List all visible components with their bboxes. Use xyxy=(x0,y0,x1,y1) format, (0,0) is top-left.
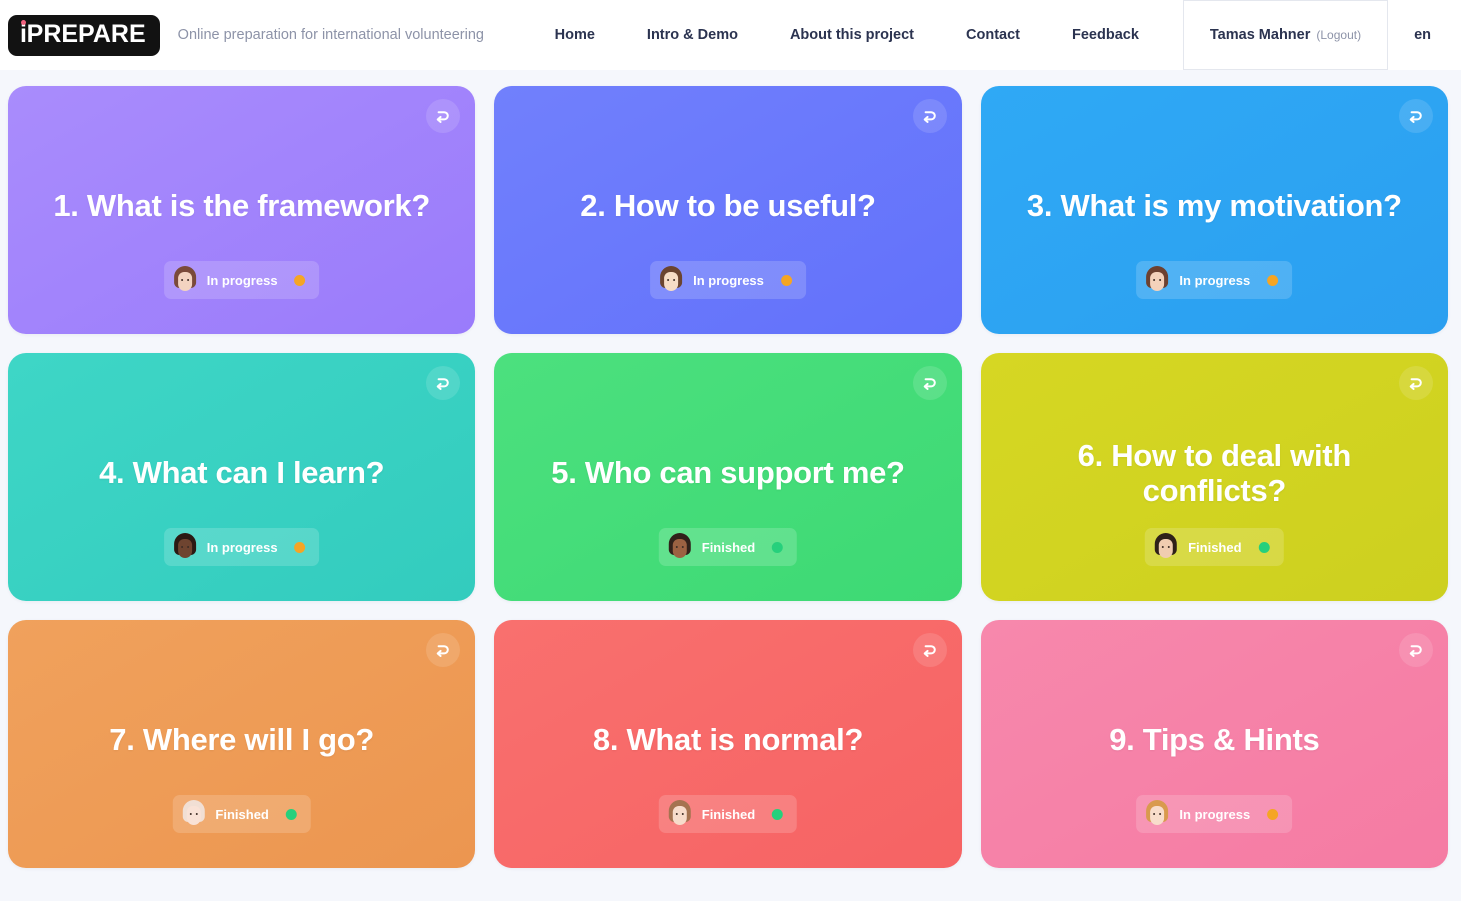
status-badge: Finished xyxy=(1145,528,1283,566)
status-badge: In progress xyxy=(164,528,320,566)
card-title: 3. What is my motivation? xyxy=(987,188,1442,223)
card-title: 6. How to deal with conflicts? xyxy=(981,438,1448,509)
status-dot-finished xyxy=(286,809,297,820)
card-4[interactable]: 4. What can I learn?In progress xyxy=(8,353,475,601)
avatar-dark-skin-male xyxy=(172,533,198,561)
status-label: In progress xyxy=(207,273,278,288)
avatar-brown-hair-woman xyxy=(1144,266,1170,294)
status-dot-in-progress xyxy=(781,275,792,286)
reset-arrow-icon xyxy=(1407,374,1425,392)
reset-arrow-icon xyxy=(434,107,452,125)
reset-progress-button[interactable] xyxy=(426,633,460,667)
reset-progress-button[interactable] xyxy=(913,633,947,667)
card-title: 4. What can I learn? xyxy=(59,455,424,490)
status-badge: In progress xyxy=(1136,261,1292,299)
reset-arrow-icon xyxy=(921,641,939,659)
card-8[interactable]: 8. What is normal?Finished xyxy=(494,620,961,868)
card-title: 2. How to be useful? xyxy=(540,188,915,223)
nav-about[interactable]: About this project xyxy=(764,0,940,70)
status-label: In progress xyxy=(693,273,764,288)
reset-arrow-icon xyxy=(434,374,452,392)
status-dot-in-progress xyxy=(295,542,306,553)
reset-progress-button[interactable] xyxy=(426,366,460,400)
status-dot-in-progress xyxy=(295,275,306,286)
avatar-curly-dark-hair-woman xyxy=(667,533,693,561)
status-label: In progress xyxy=(1179,807,1250,822)
status-badge: Finished xyxy=(172,795,310,833)
card-title: 1. What is the framework? xyxy=(13,188,470,223)
status-dot-finished xyxy=(1259,542,1270,553)
reset-progress-button[interactable] xyxy=(1399,99,1433,133)
site-header: iPREPARE Online preparation for internat… xyxy=(0,0,1461,70)
status-label: In progress xyxy=(207,540,278,555)
reset-arrow-icon xyxy=(921,107,939,125)
status-dot-in-progress xyxy=(1267,809,1278,820)
reset-arrow-icon xyxy=(921,374,939,392)
reset-progress-button[interactable] xyxy=(426,99,460,133)
card-7[interactable]: 7. Where will I go?Finished xyxy=(8,620,475,868)
reset-progress-button[interactable] xyxy=(1399,633,1433,667)
card-3[interactable]: 3. What is my motivation?In progress xyxy=(981,86,1448,334)
avatar-short-brown-hair-male xyxy=(658,266,684,294)
avatar-bearded-topknot-male xyxy=(1153,533,1179,561)
status-label: Finished xyxy=(215,807,268,822)
nav-intro-demo[interactable]: Intro & Demo xyxy=(621,0,764,70)
card-title: 5. Who can support me? xyxy=(511,455,944,490)
reset-arrow-icon xyxy=(1407,107,1425,125)
status-label: Finished xyxy=(1188,540,1241,555)
card-6[interactable]: 6. How to deal with conflicts?Finished xyxy=(981,353,1448,601)
status-badge: Finished xyxy=(659,528,797,566)
status-dot-finished xyxy=(772,809,783,820)
status-label: Finished xyxy=(702,540,755,555)
status-label: Finished xyxy=(702,807,755,822)
nav-feedback[interactable]: Feedback xyxy=(1046,0,1165,70)
status-dot-in-progress xyxy=(1267,275,1278,286)
nav-home[interactable]: Home xyxy=(529,0,621,70)
language-selector[interactable]: en xyxy=(1388,0,1461,70)
logo-iprepare[interactable]: iPREPARE xyxy=(8,15,160,56)
card-9[interactable]: 9. Tips & HintsIn progress xyxy=(981,620,1448,868)
brand-group: iPREPARE Online preparation for internat… xyxy=(0,15,484,56)
status-label: In progress xyxy=(1179,273,1250,288)
module-card-grid: 1. What is the framework?In progress2. H… xyxy=(0,70,1461,868)
card-5[interactable]: 5. Who can support me?Finished xyxy=(494,353,961,601)
reset-progress-button[interactable] xyxy=(913,99,947,133)
logo-word: PREPARE xyxy=(27,22,146,47)
card-title: 8. What is normal? xyxy=(553,722,903,757)
reset-arrow-icon xyxy=(1407,641,1425,659)
user-account-box[interactable]: Tamas Mahner (Logout) xyxy=(1183,0,1388,70)
status-dot-finished xyxy=(772,542,783,553)
user-name-label: Tamas Mahner xyxy=(1210,27,1310,43)
reset-progress-button[interactable] xyxy=(913,366,947,400)
status-badge: In progress xyxy=(650,261,806,299)
reset-progress-button[interactable] xyxy=(1399,366,1433,400)
card-1[interactable]: 1. What is the framework?In progress xyxy=(8,86,475,334)
avatar-bun-hair-woman xyxy=(667,800,693,828)
avatar-long-brown-hair xyxy=(172,266,198,294)
status-badge: Finished xyxy=(659,795,797,833)
card-2[interactable]: 2. How to be useful?In progress xyxy=(494,86,961,334)
logo-i-letter: i xyxy=(20,22,27,47)
card-title: 9. Tips & Hints xyxy=(1069,722,1359,757)
avatar-light-hair-woman xyxy=(180,800,206,828)
site-tagline: Online preparation for international vol… xyxy=(178,27,484,43)
logout-link[interactable]: (Logout) xyxy=(1316,28,1361,42)
card-title: 7. Where will I go? xyxy=(69,722,414,757)
nav-contact[interactable]: Contact xyxy=(940,0,1046,70)
avatar-blonde-woman xyxy=(1144,800,1170,828)
status-badge: In progress xyxy=(1136,795,1292,833)
status-badge: In progress xyxy=(164,261,320,299)
reset-arrow-icon xyxy=(434,641,452,659)
main-navigation: Home Intro & Demo About this project Con… xyxy=(529,0,1461,70)
